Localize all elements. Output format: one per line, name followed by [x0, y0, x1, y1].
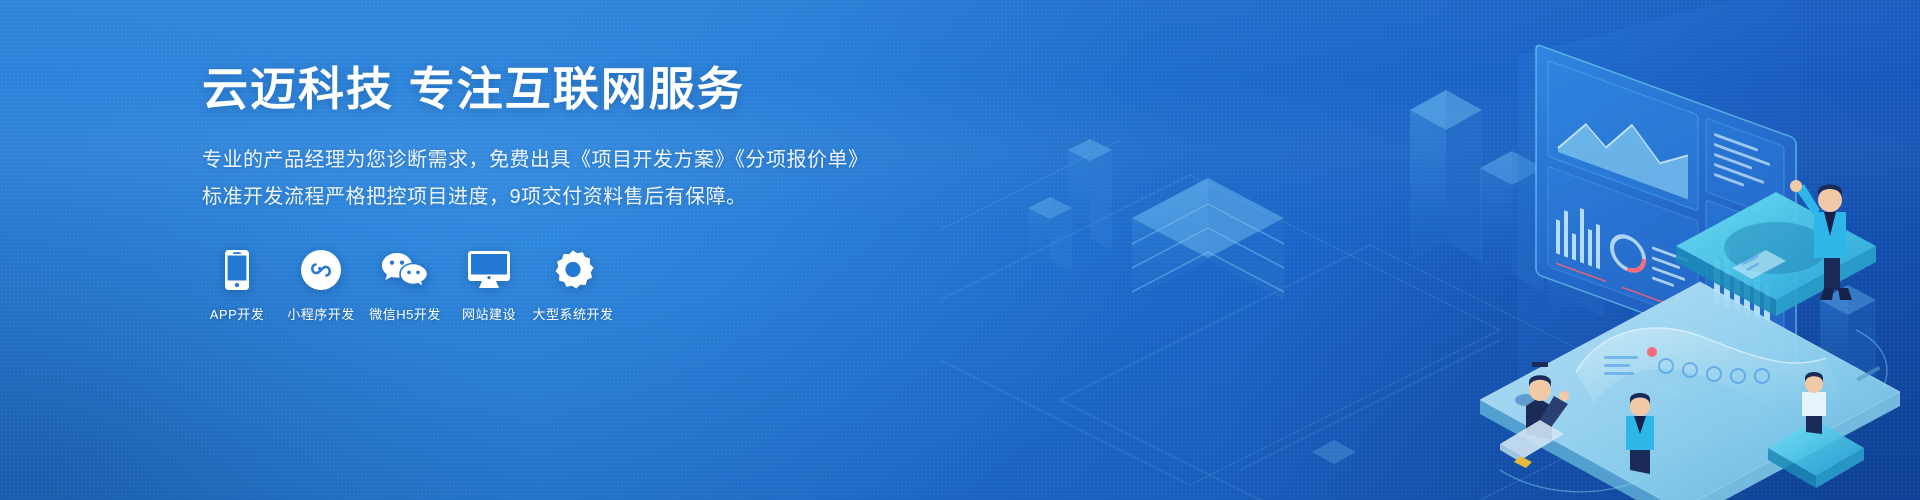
service-label: 微信H5开发: [369, 304, 441, 323]
service-label: 网站建设: [462, 304, 516, 323]
mobile-phone-icon: [225, 248, 249, 292]
service-item-app[interactable]: APP开发: [202, 248, 272, 323]
subtitle-line-2: 标准开发流程严格把控项目进度，9项交付资料售后有保障。: [202, 180, 902, 214]
service-list: APP开发 小程序开发: [202, 248, 902, 323]
mini-program-icon: [301, 248, 341, 292]
service-item-wechat[interactable]: 微信H5开发: [370, 248, 440, 323]
gear-icon: [552, 248, 594, 292]
service-label: 大型系统开发: [533, 304, 614, 323]
service-item-website[interactable]: 网站建设: [454, 248, 524, 323]
banner-content: 云迈科技 专注互联网服务 专业的产品经理为您诊断需求，免费出具《项目开发方案》《…: [202, 62, 902, 323]
service-label: 小程序开发: [287, 304, 355, 323]
service-item-miniprogram[interactable]: 小程序开发: [286, 248, 356, 323]
subtitle-line-1: 专业的产品经理为您诊断需求，免费出具《项目开发方案》《分项报价单》: [202, 143, 902, 177]
wechat-icon: [381, 248, 429, 292]
hero-illustration: [940, 0, 1920, 500]
service-item-system[interactable]: 大型系统开发: [538, 248, 608, 323]
monitor-icon: [468, 248, 510, 292]
hero-banner: 云迈科技 专注互联网服务 专业的产品经理为您诊断需求，免费出具《项目开发方案》《…: [0, 0, 1920, 500]
service-label: APP开发: [210, 304, 265, 323]
page-title: 云迈科技 专注互联网服务: [202, 62, 902, 117]
